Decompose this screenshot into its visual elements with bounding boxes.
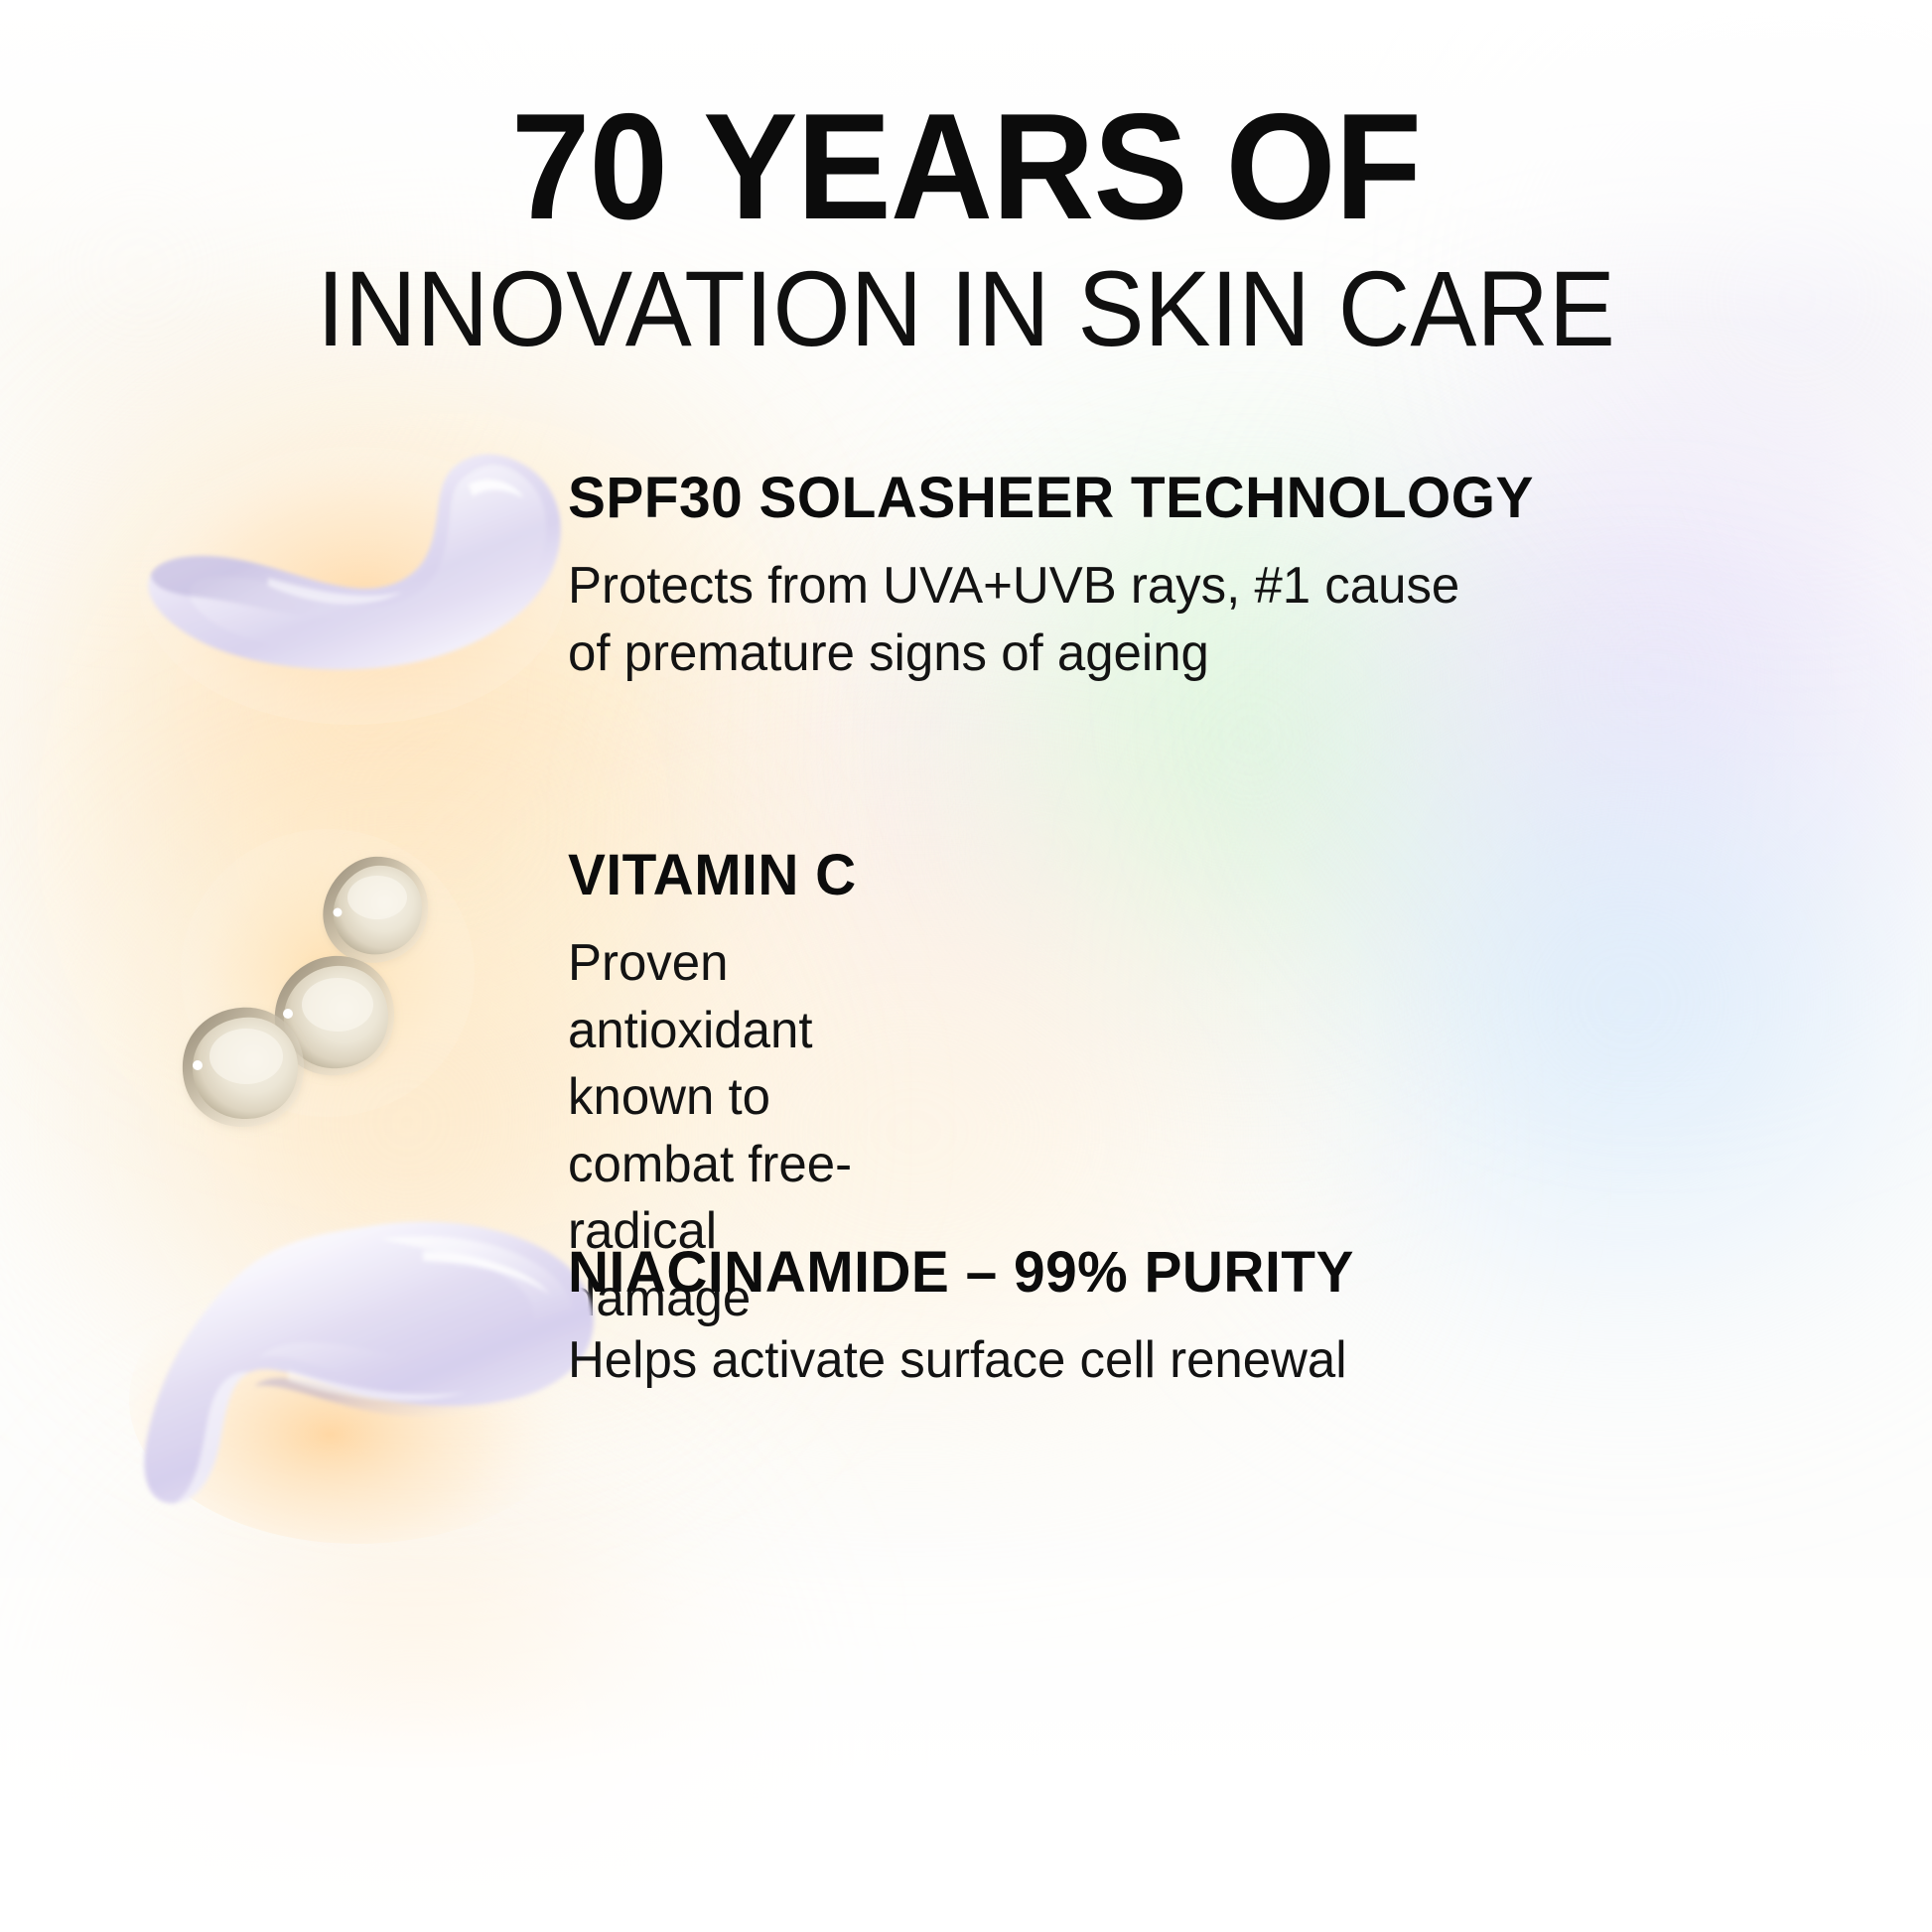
cream-swatch-icon <box>119 427 576 725</box>
header: 70 YEARS OF INNOVATION IN SKIN CARE <box>0 91 1932 364</box>
feature-spf30-title: SPF30 SOLASHEER TECHNOLOGY <box>568 465 1534 531</box>
feature-spf30-text-block: SPF30 SOLASHEER TECHNOLOGY Protects from… <box>568 465 1554 687</box>
page-title: 70 YEARS OF <box>58 91 1873 242</box>
cream-swatch-bottom-icon <box>139 1211 606 1529</box>
feature-spf30-body-line-2: of premature signs of ageing <box>568 621 1534 688</box>
feature-spf30-body-line-1: Protects from UVA+UVB rays, #1 cause <box>568 553 1534 621</box>
feature-vitamin-c-title: VITAMIN C <box>568 842 857 908</box>
feature-niacinamide-text-block: NIACINAMIDE – 99% PURITY Helps activate … <box>568 1239 1370 1395</box>
page-subtitle: INNOVATION IN SKIN CARE <box>68 252 1864 364</box>
feature-spf30-body: Protects from UVA+UVB rays, #1 cause of … <box>568 553 1534 687</box>
feature-niacinamide-body-line-1: Helps activate surface cell renewal <box>568 1327 1354 1395</box>
feature-vitamin-c-body-line-1: Proven antioxidant known to <box>568 930 857 1132</box>
serum-droplets-icon <box>179 824 477 1122</box>
droplet-lower-left <box>183 1008 304 1127</box>
feature-niacinamide-title: NIACINAMIDE – 99% PURITY <box>568 1239 1354 1306</box>
feature-niacinamide-body: Helps activate surface cell renewal <box>568 1327 1354 1395</box>
